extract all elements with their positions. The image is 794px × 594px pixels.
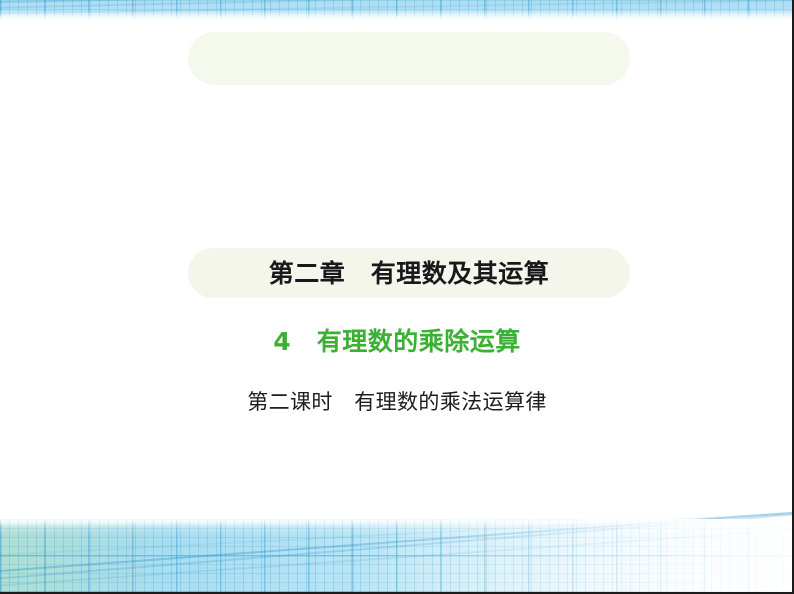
section-heading: 4 有理数的乘除运算 — [0, 329, 794, 354]
chapter-title: 第二章 有理数及其运算 — [269, 261, 550, 286]
band-base-fill — [0, 0, 794, 20]
banner-placeholder — [188, 32, 630, 85]
band-horizontal-major-gridlines — [0, 519, 794, 592]
band-horizontal-gridlines — [0, 0, 794, 20]
band-horizontal-gridlines — [0, 519, 794, 592]
band-fade-mask — [0, 519, 794, 592]
band-diagonal-sweep — [0, 519, 794, 592]
band-vertical-gridlines — [0, 0, 794, 20]
chapter-pill: 第二章 有理数及其运算 — [188, 248, 630, 298]
lesson-subtitle: 第二课时 有理数的乘法运算律 — [0, 392, 794, 413]
band-fade-mask — [0, 0, 794, 20]
band-vertical-gridlines — [0, 519, 794, 592]
top-grid-band — [0, 0, 794, 20]
band-diagonal-sweep — [0, 0, 794, 20]
band-vertical-major-gridlines — [0, 519, 794, 592]
slide-canvas: 第二章 有理数及其运算 4 有理数的乘除运算 第二课时 有理数的乘法运算律 — [0, 0, 794, 594]
band-base-fill — [0, 519, 794, 592]
bottom-grid-band — [0, 519, 794, 592]
band-vertical-major-gridlines — [0, 0, 794, 20]
